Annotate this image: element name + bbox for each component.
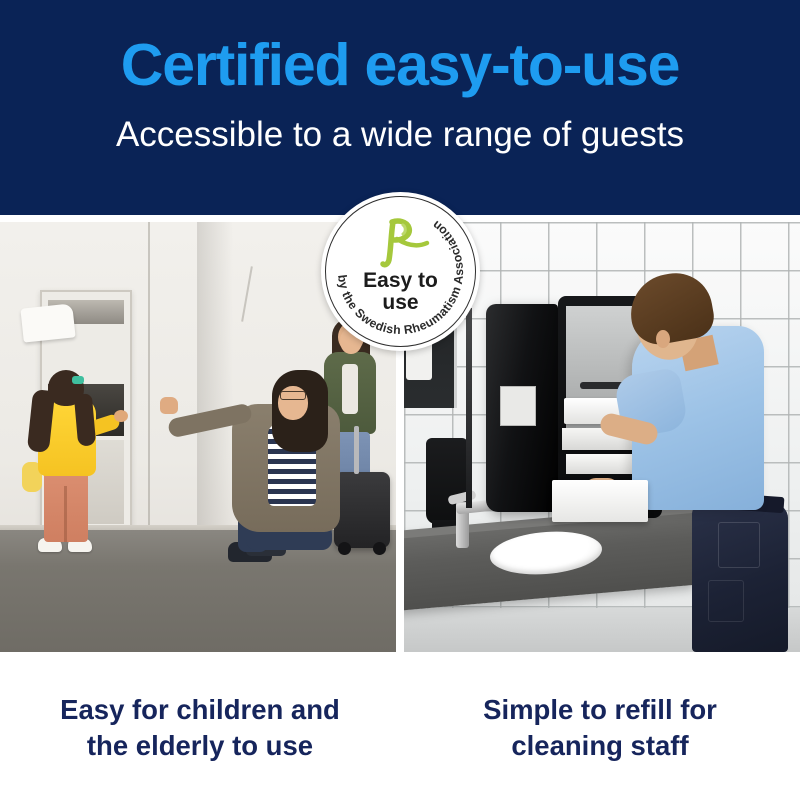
staff-ear xyxy=(656,330,670,348)
traveller-shirt xyxy=(342,364,358,414)
rolling-suitcase xyxy=(334,472,390,548)
caption-right: Simple to refill for cleaning staff xyxy=(400,660,800,800)
suitcase-wheel xyxy=(373,542,386,555)
child-hair-clip xyxy=(72,376,84,384)
caption-row: Easy for children and the elderly to use… xyxy=(0,660,800,800)
page-subtitle: Accessible to a wide range of guests xyxy=(116,117,684,152)
suitcase-wheel xyxy=(338,542,351,555)
towel-refill-pack xyxy=(552,480,648,522)
caption-right-text: Simple to refill for cleaning staff xyxy=(483,692,717,765)
badge-center-line-2: use xyxy=(321,292,480,314)
badge-center-line-1: Easy to xyxy=(321,270,480,292)
caption-left-text: Easy for children and the elderly to use xyxy=(60,692,340,765)
paper-towel xyxy=(20,303,75,342)
wall-seam xyxy=(148,222,150,574)
badge-center-text: Easy to use xyxy=(321,270,480,313)
certification-badge: Approved by the Swedish Rheumatism Assoc… xyxy=(321,192,480,351)
caption-left: Easy for children and the elderly to use xyxy=(0,660,400,800)
child-hand xyxy=(114,410,128,422)
woman-glasses xyxy=(280,391,306,400)
promotional-poster: Certified easy-to-use Accessible to a wi… xyxy=(0,0,800,800)
page-title: Certified easy-to-use xyxy=(121,36,679,95)
child-trouser-seam xyxy=(64,486,67,542)
woman-hand xyxy=(160,397,178,414)
staff-pocket xyxy=(718,522,760,568)
wall-shadow xyxy=(199,222,233,574)
staff-pocket xyxy=(708,580,744,622)
header-banner: Certified easy-to-use Accessible to a wi… xyxy=(0,0,800,215)
dispenser-label xyxy=(500,386,536,426)
rheumatism-r-logo-icon xyxy=(321,218,480,270)
